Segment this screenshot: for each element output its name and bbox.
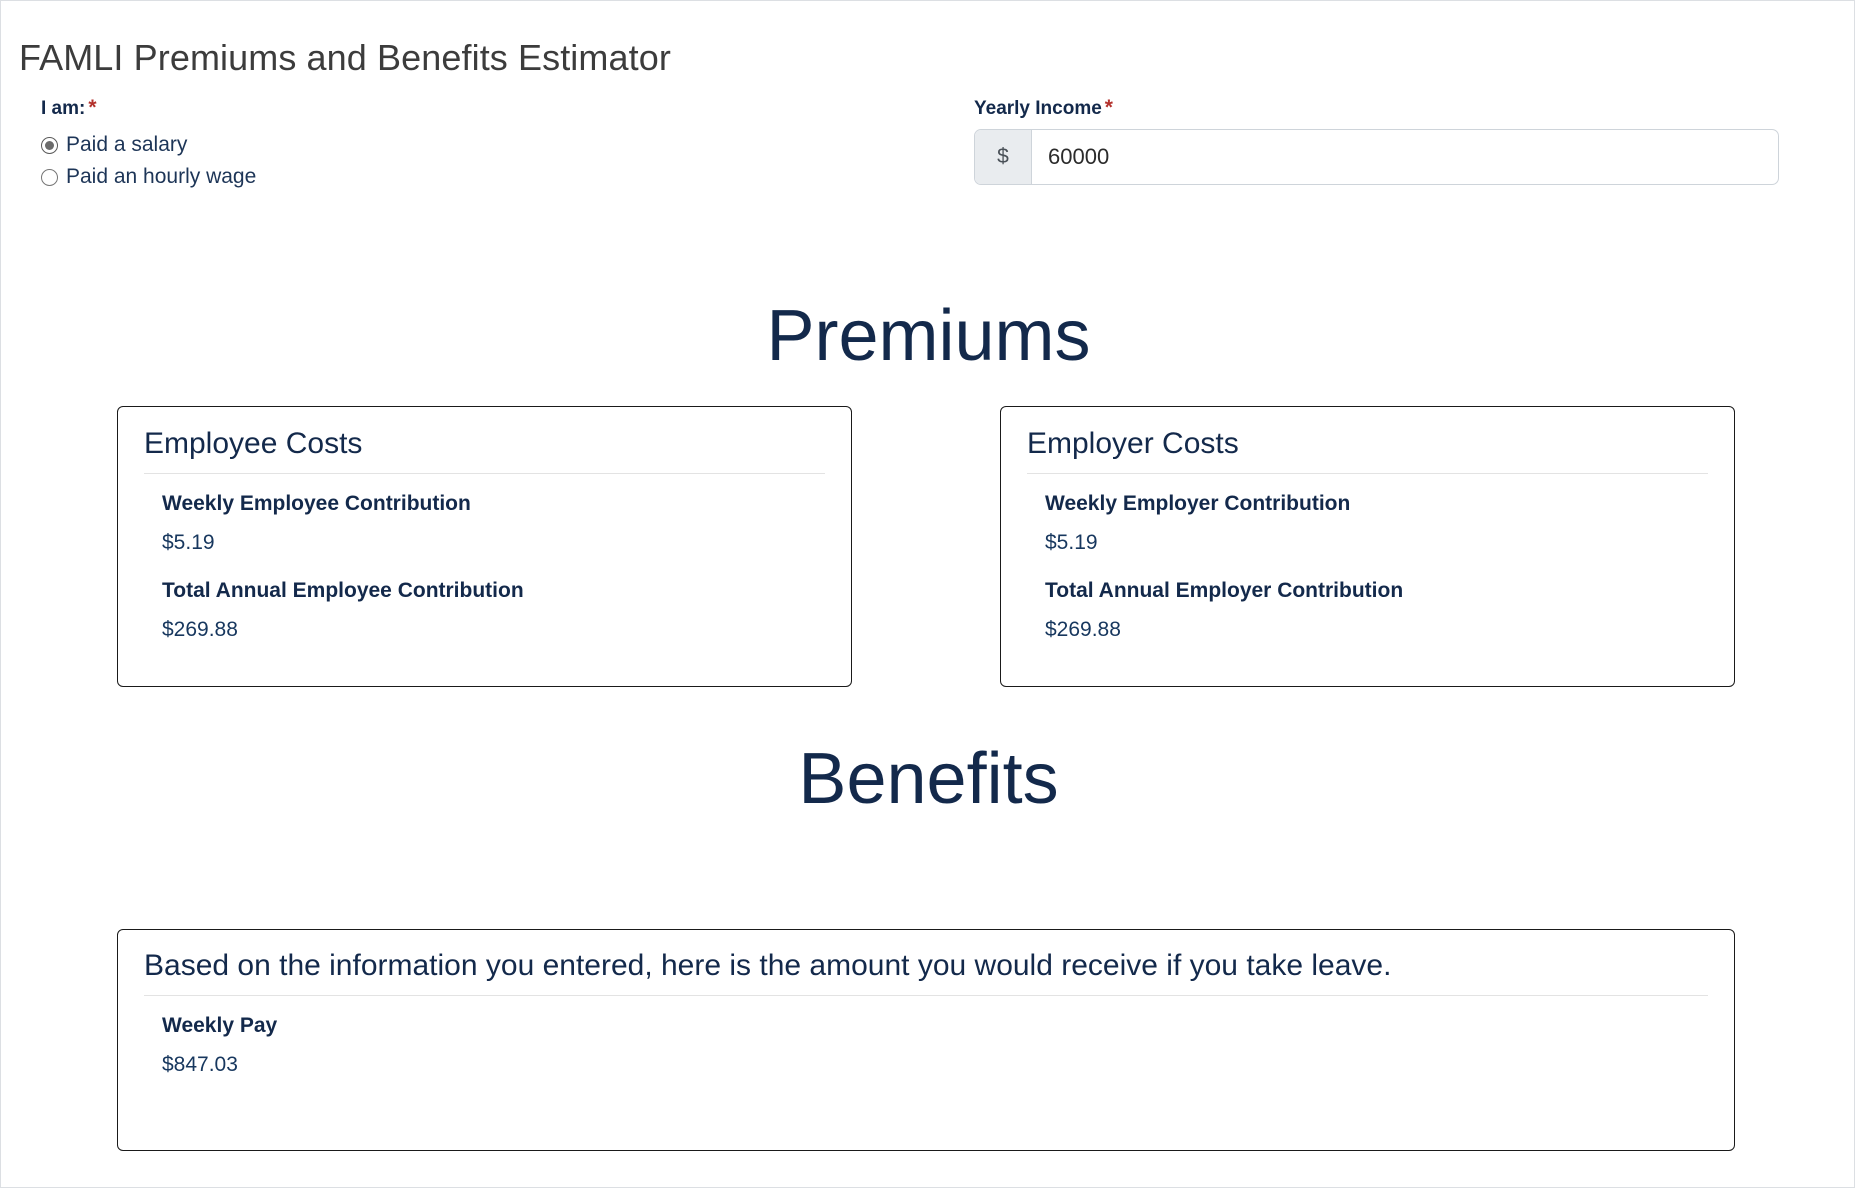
metric-value: $847.03 (162, 1052, 1708, 1078)
yearly-income-input-group[interactable]: $ (974, 129, 1779, 185)
benefits-card-body: Weekly Pay $847.03 (118, 996, 1734, 1078)
required-asterisk-icon: * (88, 96, 96, 119)
estimator-page: FAMLI Premiums and Benefits Estimator I … (0, 0, 1855, 1188)
metric-label: Total Annual Employer Contribution (1045, 578, 1708, 604)
metric-value: $5.19 (162, 530, 825, 556)
metric-label: Total Annual Employee Contribution (162, 578, 825, 604)
employment-type-label-text: I am: (41, 98, 85, 119)
metric-weekly-employee-contribution: Weekly Employee Contribution $5.19 (162, 491, 825, 556)
metric-value: $5.19 (1045, 530, 1708, 556)
metric-total-annual-employee-contribution: Total Annual Employee Contribution $269.… (162, 578, 825, 643)
metric-label: Weekly Employer Contribution (1045, 491, 1708, 517)
radio-unselected-icon[interactable] (41, 169, 58, 186)
radio-option-label: Paid an hourly wage (66, 165, 256, 189)
employee-costs-card-title: Employee Costs (118, 407, 851, 463)
form-row: I am:* Paid a salary Paid an hourly wage… (1, 97, 1855, 207)
yearly-income-input[interactable] (1032, 130, 1778, 184)
page-title: FAMLI Premiums and Benefits Estimator (19, 37, 671, 79)
benefits-section-heading: Benefits (1, 739, 1855, 819)
yearly-income-field: Yearly Income* $ (974, 97, 1784, 185)
required-asterisk-icon: * (1105, 96, 1113, 119)
metric-value: $269.88 (1045, 617, 1708, 643)
metric-label: Weekly Pay (162, 1013, 1708, 1039)
yearly-income-label-text: Yearly Income (974, 98, 1102, 119)
yearly-income-label: Yearly Income* (974, 97, 1784, 120)
radio-option-paid-a-salary[interactable]: Paid a salary (41, 129, 941, 161)
radio-option-paid-an-hourly-wage[interactable]: Paid an hourly wage (41, 161, 941, 193)
metric-total-annual-employer-contribution: Total Annual Employer Contribution $269.… (1045, 578, 1708, 643)
metric-value: $269.88 (162, 617, 825, 643)
metric-label: Weekly Employee Contribution (162, 491, 825, 517)
dollar-sign-icon: $ (975, 130, 1032, 184)
employment-type-radio-group[interactable]: Paid a salary Paid an hourly wage (41, 129, 941, 193)
employee-costs-card: Employee Costs Weekly Employee Contribut… (117, 406, 852, 687)
employer-costs-card: Employer Costs Weekly Employer Contribut… (1000, 406, 1735, 687)
employer-costs-card-body: Weekly Employer Contribution $5.19 Total… (1001, 474, 1734, 643)
metric-weekly-pay: Weekly Pay $847.03 (162, 1013, 1708, 1078)
radio-selected-icon[interactable] (41, 137, 58, 154)
employee-costs-card-body: Weekly Employee Contribution $5.19 Total… (118, 474, 851, 643)
employment-type-field: I am:* Paid a salary Paid an hourly wage (41, 97, 941, 193)
employment-type-label: I am:* (41, 97, 941, 120)
premiums-section-heading: Premiums (1, 296, 1855, 376)
radio-option-label: Paid a salary (66, 133, 187, 157)
metric-weekly-employer-contribution: Weekly Employer Contribution $5.19 (1045, 491, 1708, 556)
benefits-card-title: Based on the information you entered, he… (118, 930, 1734, 985)
employer-costs-card-title: Employer Costs (1001, 407, 1734, 463)
benefits-card: Based on the information you entered, he… (117, 929, 1735, 1151)
